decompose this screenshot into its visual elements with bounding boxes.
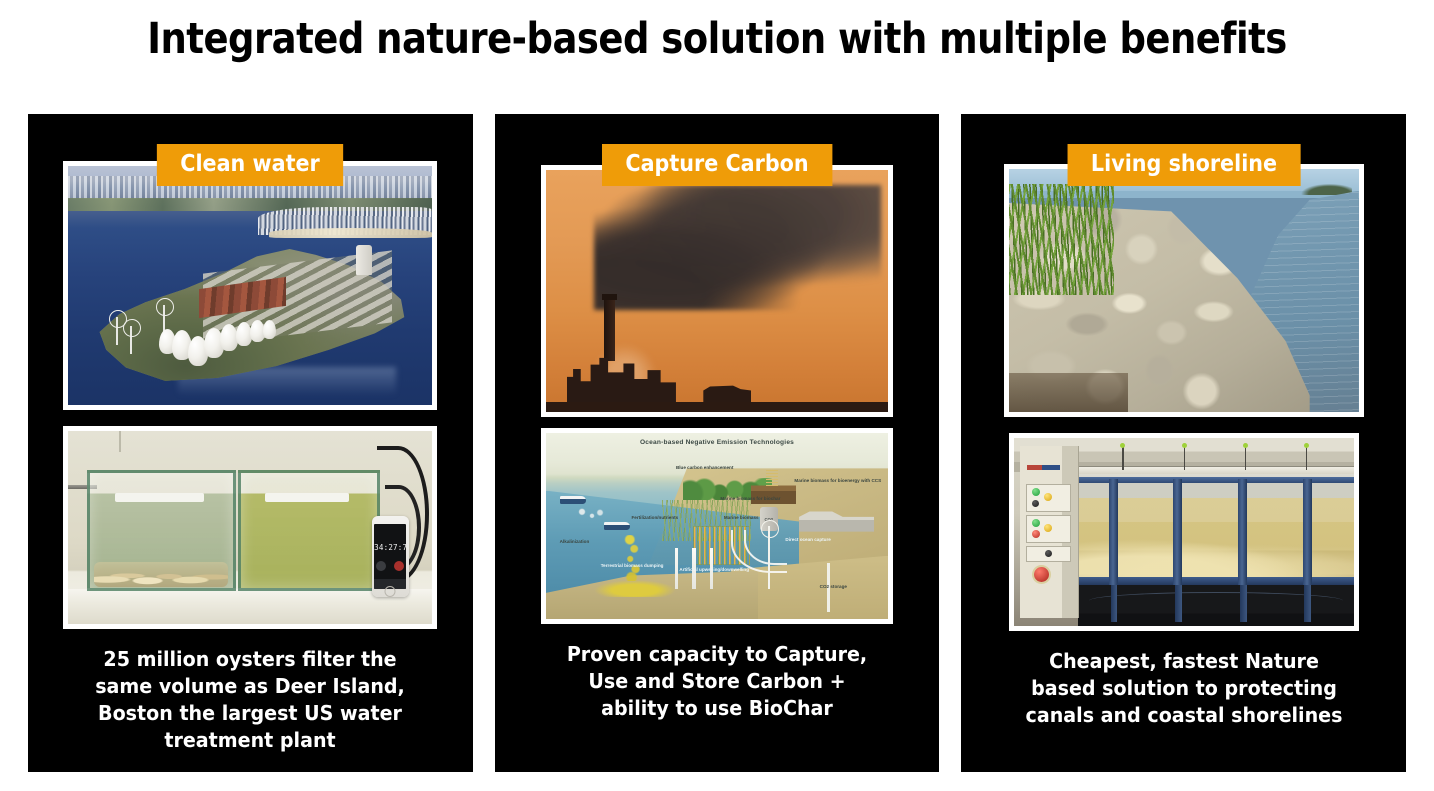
diagram-label-blue-carbon: Blue carbon enhancement bbox=[676, 465, 733, 471]
diagram-label-terrestrial-dumping: Terrestrial biomass dumping bbox=[601, 563, 664, 569]
diagram-label-alkalinization: Alkalinization bbox=[560, 539, 590, 545]
panel-caption: 25 million oysters filter the same volum… bbox=[92, 646, 408, 754]
page-title: Integrated nature-based solution with mu… bbox=[100, 14, 1333, 64]
badge-living-shoreline: Living shoreline bbox=[1067, 144, 1300, 186]
panel-caption: Cheapest, fastest Nature based solution … bbox=[1016, 648, 1351, 729]
diagram-label-direct-ocean-capture: Direct ocean capture bbox=[785, 537, 830, 543]
yellow-indicator-icon bbox=[1044, 524, 1052, 532]
red-indicator-icon bbox=[1032, 530, 1040, 538]
lab-logo bbox=[1027, 465, 1059, 470]
diagram-label-biomass-beccs: Marine biomass for bioenergy with CCS bbox=[794, 478, 881, 484]
benefit-panels: Clean water bbox=[28, 114, 1406, 772]
green-indicator-icon bbox=[1032, 488, 1040, 496]
smokestack-sunset-photo bbox=[541, 165, 893, 417]
selector-switch-icon bbox=[1045, 550, 1052, 557]
diagram-label-biomass-biochar: Marine biomass for biochar bbox=[720, 496, 780, 502]
yellow-indicator-icon bbox=[1044, 493, 1052, 501]
panel-capture-carbon[interactable]: Capture Carbon Ocean-based Negative Emis… bbox=[495, 114, 940, 772]
panel-clean-water[interactable]: Clean water bbox=[28, 114, 473, 772]
diagram-label-artificial-upwelling: Artificial upwelling/downwelling bbox=[679, 567, 749, 573]
badge-clean-water: Clean water bbox=[157, 144, 343, 186]
emergency-stop-icon bbox=[1034, 567, 1049, 582]
diagram-label-marine-biomass: Marine biomass bbox=[724, 515, 759, 521]
phone-stopwatch: 34:27:76 bbox=[372, 516, 409, 597]
wave-flume-laboratory-photo bbox=[1009, 433, 1359, 631]
badge-capture-carbon: Capture Carbon bbox=[602, 144, 832, 186]
black-button-icon bbox=[1032, 500, 1039, 507]
deer-island-aerial-photo bbox=[63, 161, 437, 410]
oyster-reef-shoreline-photo bbox=[1004, 164, 1364, 417]
ocean-negative-emissions-diagram: Ocean-based Negative Emission Technologi… bbox=[541, 428, 893, 624]
green-indicator-icon bbox=[1032, 519, 1040, 527]
flume-control-panel bbox=[1020, 446, 1079, 619]
stopwatch-time: 34:27:76 bbox=[374, 543, 406, 552]
home-button-icon bbox=[385, 586, 396, 597]
oyster-filtration-tanks-photo: 34:27:76 bbox=[63, 426, 437, 629]
diagram-title: Ocean-based Negative Emission Technologi… bbox=[546, 439, 888, 446]
diagram-label-fertilization: Fertilization/nutrients bbox=[632, 515, 679, 521]
panel-caption: Proven capacity to Capture, Use and Stor… bbox=[559, 641, 875, 722]
diagram-label-co2-storage: CO2 storage bbox=[820, 584, 847, 590]
panel-living-shoreline[interactable]: Living shoreline bbox=[961, 114, 1406, 772]
